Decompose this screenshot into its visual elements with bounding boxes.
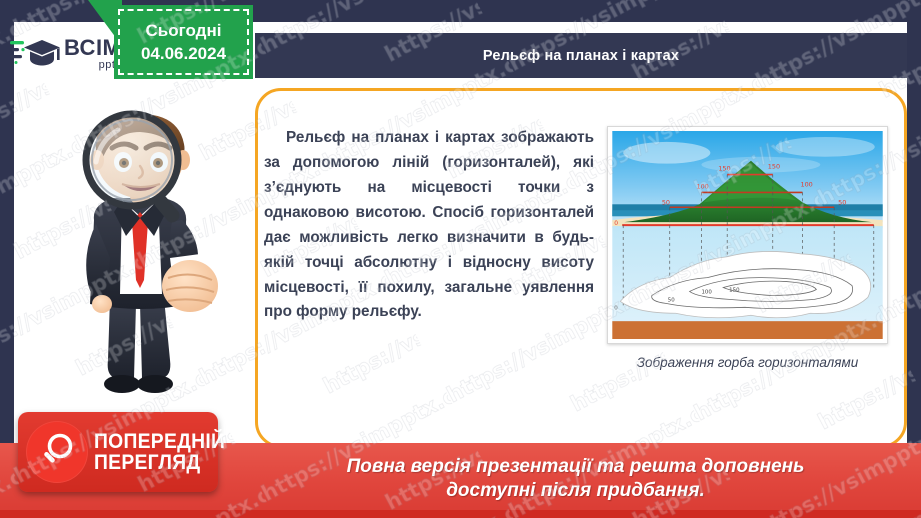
brand-name: ВСІМ bbox=[64, 37, 121, 59]
preview-badge-line-1: ПОПЕРЕДНІЙ bbox=[94, 431, 225, 452]
figure-block: 0 50 50 100 100 150 150 bbox=[607, 126, 888, 372]
svg-text:50: 50 bbox=[668, 297, 675, 303]
svg-text:100: 100 bbox=[696, 182, 708, 190]
purchase-notice-line-2: доступні після придбання. bbox=[347, 479, 805, 503]
brand-logo-text: ВСІМ pptx bbox=[64, 37, 121, 71]
svg-text:50: 50 bbox=[838, 198, 846, 206]
purchase-notice-line-1: Повна версія презентації та решта доповн… bbox=[347, 455, 805, 479]
preview-badge-line-2: ПЕРЕГЛЯД bbox=[94, 452, 225, 473]
svg-text:100: 100 bbox=[800, 180, 812, 188]
figure-caption: Зображення горба горизонталями bbox=[607, 354, 888, 372]
svg-text:0: 0 bbox=[614, 305, 618, 311]
date-badge-value: 04.06.2024 bbox=[141, 44, 226, 64]
page-title: Рельєф на планах і картах bbox=[483, 48, 679, 64]
hill-contour-diagram: 0 50 50 100 100 150 150 bbox=[607, 126, 888, 344]
svg-text:150: 150 bbox=[729, 287, 740, 293]
magnifier-icon bbox=[26, 421, 88, 483]
preview-badge-label: ПОПЕРЕДНІЙ ПЕРЕГЛЯД bbox=[94, 431, 225, 474]
svg-text:50: 50 bbox=[662, 198, 670, 206]
date-badge-label: Сьогодні bbox=[146, 21, 222, 41]
slide-header-bar: Рельєф на планах і картах bbox=[255, 33, 907, 78]
brand-logo: ВСІМ pptx bbox=[10, 28, 128, 80]
svg-text:150: 150 bbox=[768, 163, 780, 171]
preview-badge[interactable]: ПОПЕРЕДНІЙ ПЕРЕГЛЯД bbox=[18, 412, 218, 492]
svg-text:100: 100 bbox=[701, 289, 712, 295]
body-paragraph: Рельєф на планах і картах зображають за … bbox=[264, 126, 594, 325]
businessman-with-magnifier-illustration bbox=[22, 108, 252, 408]
slide-root: ВСІМ pptx Рельєф на планах і картах Сьог… bbox=[0, 0, 921, 518]
graduation-cap-icon bbox=[10, 34, 60, 74]
date-badge: Сьогодні 04.06.2024 bbox=[114, 5, 253, 79]
svg-text:150: 150 bbox=[718, 165, 730, 173]
svg-text:0: 0 bbox=[614, 220, 618, 227]
